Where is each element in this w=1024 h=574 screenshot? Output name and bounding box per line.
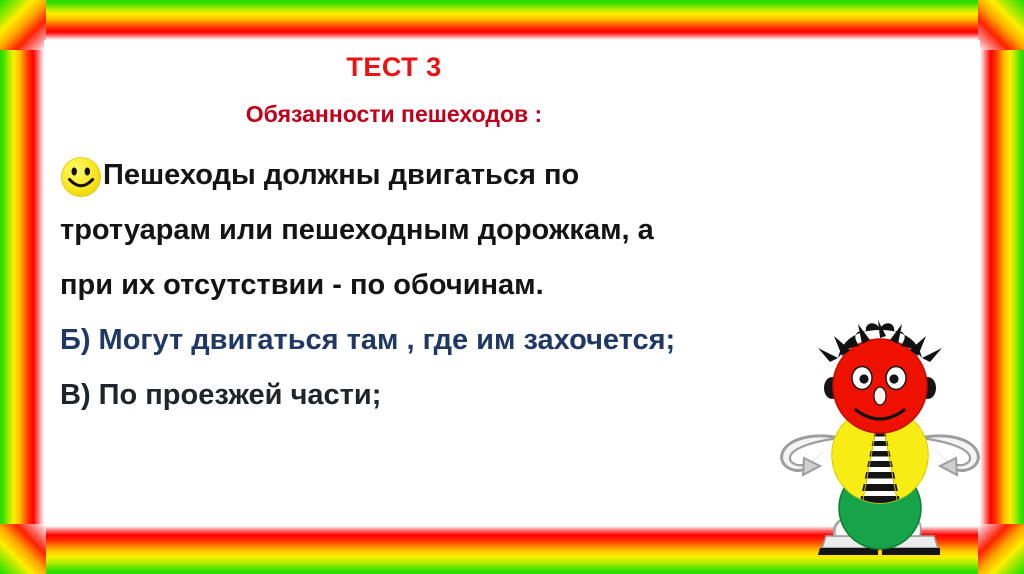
body-line-1-text: Пешеходы должны двигаться по: [103, 148, 579, 203]
smiley-face-icon: [60, 156, 102, 198]
frame-corner-top-right: [978, 0, 1024, 50]
body-line-1: Пешеходы должны двигаться по: [60, 148, 976, 203]
body-line-3: при их отсутствии - по обочинам.: [60, 258, 976, 313]
slide-canvas: ТЕСТ 3 Обязанности пешеходов :: [0, 0, 1024, 574]
frame-border-left: [0, 0, 44, 574]
frame-border-top: [0, 0, 1024, 40]
page-subtitle: Обязанности пешеходов :: [44, 102, 744, 127]
page-title: ТЕСТ 3: [44, 53, 744, 83]
frame-corner-top-left: [0, 0, 46, 50]
traffic-light-man-illustration: [770, 320, 990, 570]
body-line-2: тротуарам или пешеходным дорожкам, а: [60, 203, 976, 258]
frame-corner-bottom-left: [0, 524, 46, 574]
